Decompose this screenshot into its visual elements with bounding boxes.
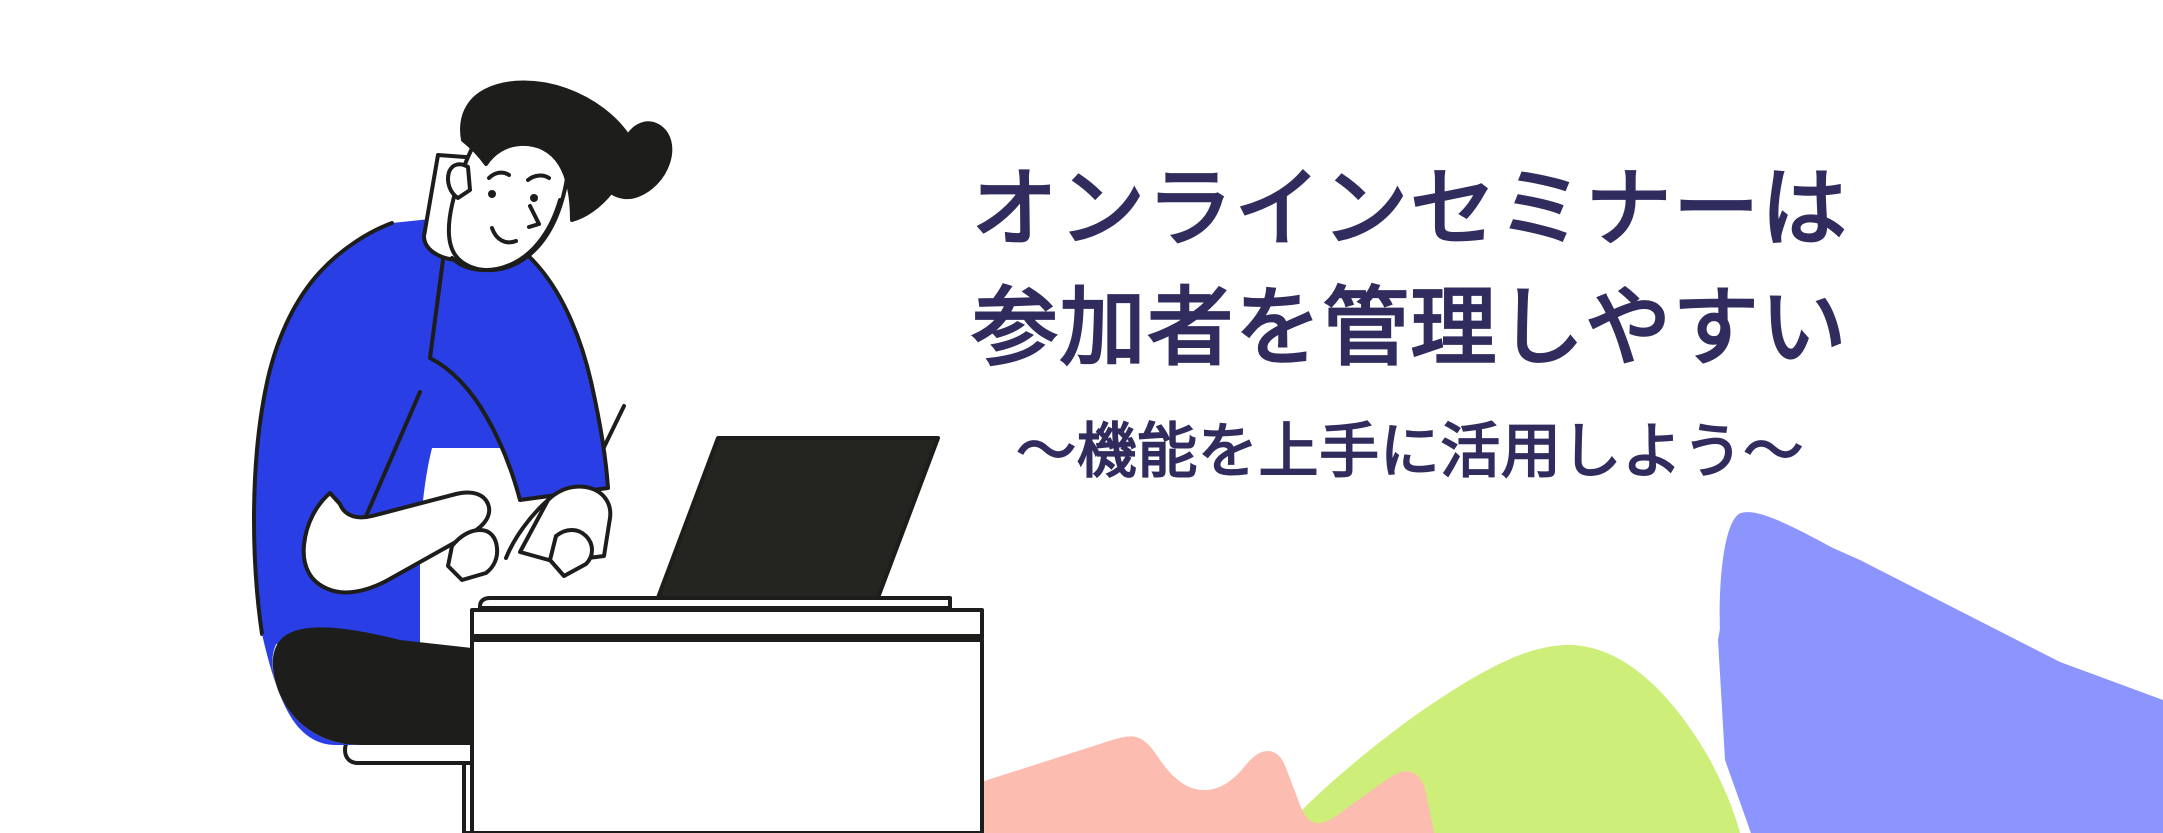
- desk-front: [472, 640, 982, 833]
- ear: [448, 164, 470, 198]
- headline-line-1: オンラインセミナーは: [880, 150, 1940, 269]
- laptop-base: [480, 598, 950, 608]
- eye-right: [530, 194, 538, 202]
- eye-left: [488, 190, 496, 198]
- desk-top: [472, 610, 982, 638]
- hand-right: [550, 530, 592, 576]
- headline-line-2: 参加者を管理しやすい: [880, 269, 1940, 388]
- headline-group: オンラインセミナーは 参加者を管理しやすい 〜機能を上手に活用しよう〜: [880, 150, 1940, 491]
- subtitle: 〜機能を上手に活用しよう〜: [880, 413, 1940, 491]
- seminar-banner: オンラインセミナーは 参加者を管理しやすい 〜機能を上手に活用しよう〜: [0, 0, 2163, 833]
